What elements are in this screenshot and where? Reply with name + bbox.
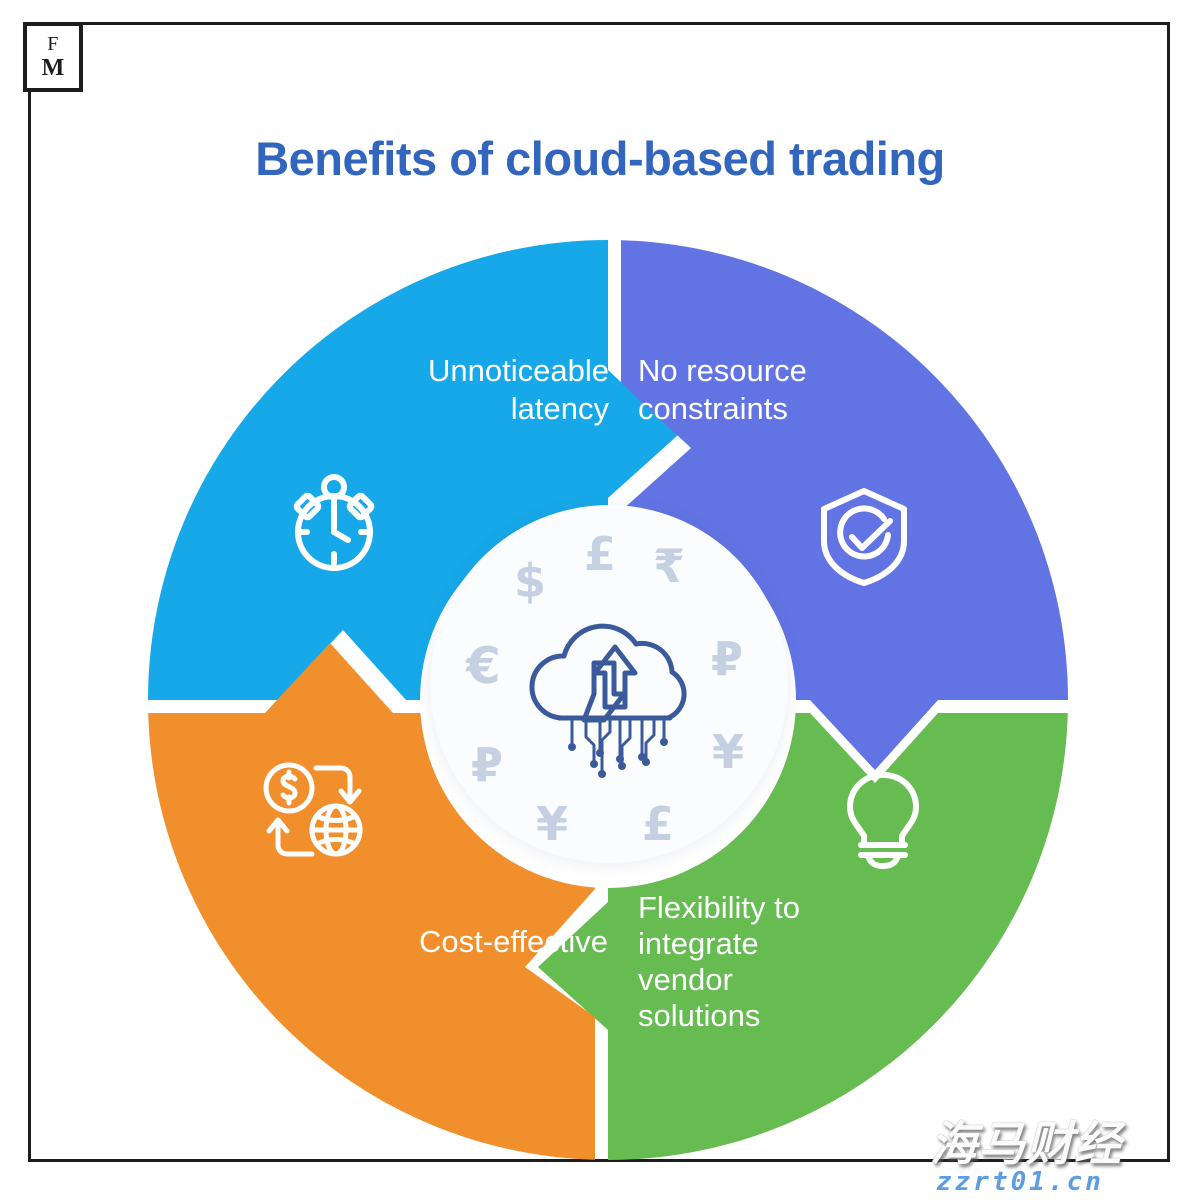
currency-symbol-pound-bottom: £ [642, 801, 674, 847]
stopwatch-icon [286, 470, 382, 581]
currency-symbol-ruble-left: ₽ [471, 742, 503, 788]
watermark-brand: 海马财经 [930, 1105, 1122, 1174]
currency-symbol-euro: € [466, 641, 501, 691]
segment-label-no-resource-constraints: No resource constraints [638, 352, 888, 428]
logo-letter-f: F [47, 34, 59, 54]
currency-symbol-yen-bottom: ¥ [536, 801, 568, 847]
logo-letter-m: M [42, 56, 65, 80]
lightbulb-icon [837, 767, 929, 876]
infographic-canvas: F M Benefits of cloud-based trading [0, 0, 1200, 1200]
segment-label-cost-effective: Cost-effective [323, 923, 608, 961]
center-hub: £ ₹ $ € ₽ ₽ ¥ ¥ £ [430, 505, 788, 863]
currency-symbol-yen-right: ¥ [712, 729, 744, 775]
cloud-data-transfer-icon [502, 611, 716, 801]
currency-symbol-dollar: $ [514, 558, 546, 604]
benefits-donut-diagram: Unnoticeable latency No resource constra… [148, 240, 1068, 1160]
fm-logo-badge[interactable]: F M [23, 22, 83, 92]
watermark-url: zzrt01.cn [936, 1167, 1104, 1197]
shield-check-icon [816, 483, 912, 594]
segment-label-flexibility-vendor-solutions: Flexibility to integrate vendor solution… [638, 890, 888, 1034]
page-title: Benefits of cloud-based trading [0, 131, 1200, 186]
currency-symbol-rupee: ₹ [653, 543, 685, 589]
money-globe-exchange-icon [258, 758, 370, 869]
watermark: 海马财经 zzrt01.cn [930, 1105, 1192, 1197]
segment-label-unnoticeable-latency: Unnoticeable latency [353, 352, 609, 428]
currency-symbol-pound-top: £ [584, 531, 616, 577]
